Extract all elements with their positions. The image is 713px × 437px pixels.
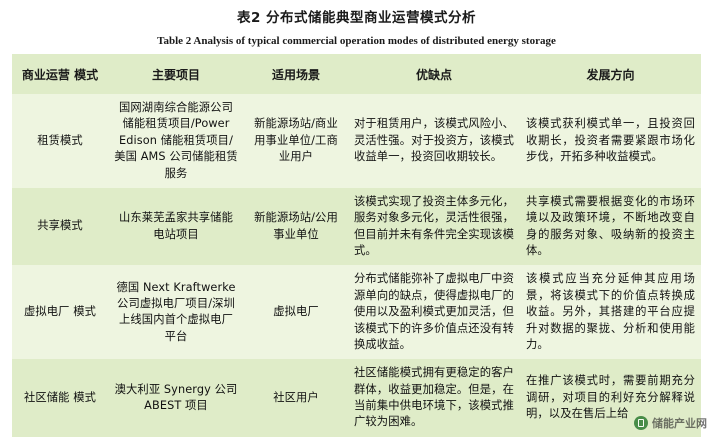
table-body: 租赁模式 国网湖南综合能源公司储能租赁项目/Power Edison 储能租赁项… — [12, 94, 701, 437]
table-row: 虚拟电厂 模式 德国 Next Kraftwerke 公司虚拟电厂项目/深圳上线… — [12, 265, 701, 359]
cell-project: 山东莱芜孟家共享储能电站项目 — [108, 188, 244, 266]
cell-scene: 虚拟电厂 — [244, 265, 348, 359]
cell-scene: 新能源场站/公用事业单位 — [244, 188, 348, 266]
cell-scene: 社区用户 — [244, 359, 348, 437]
table-row: 共享模式 山东莱芜孟家共享储能电站项目 新能源场站/公用事业单位 该模式实现了投… — [12, 188, 701, 266]
cell-mode: 租赁模式 — [12, 94, 108, 188]
header-pros-cons: 优缺点 — [348, 54, 520, 94]
header-project: 主要项目 — [108, 54, 244, 94]
cell-project: 澳大利亚 Synergy 公司ABEST 项目 — [108, 359, 244, 437]
table-row: 社区储能 模式 澳大利亚 Synergy 公司ABEST 项目 社区用户 社区储… — [12, 359, 701, 437]
watermark: 储能产业网 — [634, 415, 707, 431]
cell-pros-cons: 对于租赁用户，该模式风险小、灵活性强。对于投资方，该模式收益单一，投资回收期较长… — [348, 94, 520, 188]
header-mode: 商业运营 模式 — [12, 54, 108, 94]
cell-mode: 虚拟电厂 模式 — [12, 265, 108, 359]
cell-direction: 共享模式需要根据变化的市场环境以及政策环境，不断地改变自身的服务对象、吸纳新的投… — [520, 188, 701, 266]
cell-pros-cons: 分布式储能弥补了虚拟电厂中资源单向的缺点，使得虚拟电厂的使用以及盈利模式更加灵活… — [348, 265, 520, 359]
cell-direction: 该模式获利模式单一，且投资回收期长，投资者需要紧跟市场化步伐，开拓多种收益模式。 — [520, 94, 701, 188]
watermark-label: 储能产业网 — [652, 415, 707, 431]
table-title-en: Table 2 Analysis of typical commercial o… — [0, 35, 713, 47]
cell-scene: 新能源场站/商业用事业单位/工商业用户 — [244, 94, 348, 188]
distributed-storage-table: 商业运营 模式 主要项目 适用场景 优缺点 发展方向 租赁模式 国网湖南综合能源… — [12, 54, 701, 437]
cell-pros-cons: 该模式实现了投资主体多元化，服务对象多元化，灵活性很强，但目前并未有条件完全实现… — [348, 188, 520, 266]
cell-mode: 社区储能 模式 — [12, 359, 108, 437]
cell-pros-cons: 社区储能模式拥有更稳定的客户群体，收益更加稳定。但是，在当前集中供电环境下，该模… — [348, 359, 520, 437]
table-head: 商业运营 模式 主要项目 适用场景 优缺点 发展方向 — [12, 54, 701, 94]
cell-project: 德国 Next Kraftwerke 公司虚拟电厂项目/深圳上线国内首个虚拟电厂… — [108, 265, 244, 359]
battery-icon — [634, 416, 648, 430]
header-scene: 适用场景 — [244, 54, 348, 94]
table-title-cn: 表2 分布式储能典型商业运营模式分析 — [0, 6, 713, 26]
cell-mode: 共享模式 — [12, 188, 108, 266]
table-row: 租赁模式 国网湖南综合能源公司储能租赁项目/Power Edison 储能租赁项… — [12, 94, 701, 188]
header-direction: 发展方向 — [520, 54, 701, 94]
table-header-row: 商业运营 模式 主要项目 适用场景 优缺点 发展方向 — [12, 54, 701, 94]
page-root: 表2 分布式储能典型商业运营模式分析 Table 2 Analysis of t… — [0, 0, 713, 435]
cell-project: 国网湖南综合能源公司储能租赁项目/Power Edison 储能租赁项目/美国 … — [108, 94, 244, 188]
cell-direction: 该模式应当充分延伸其应用场景，将该模式下的价值点转换成收益。另外，其搭建的平台应… — [520, 265, 701, 359]
table-title-block: 表2 分布式储能典型商业运营模式分析 Table 2 Analysis of t… — [0, 0, 713, 47]
